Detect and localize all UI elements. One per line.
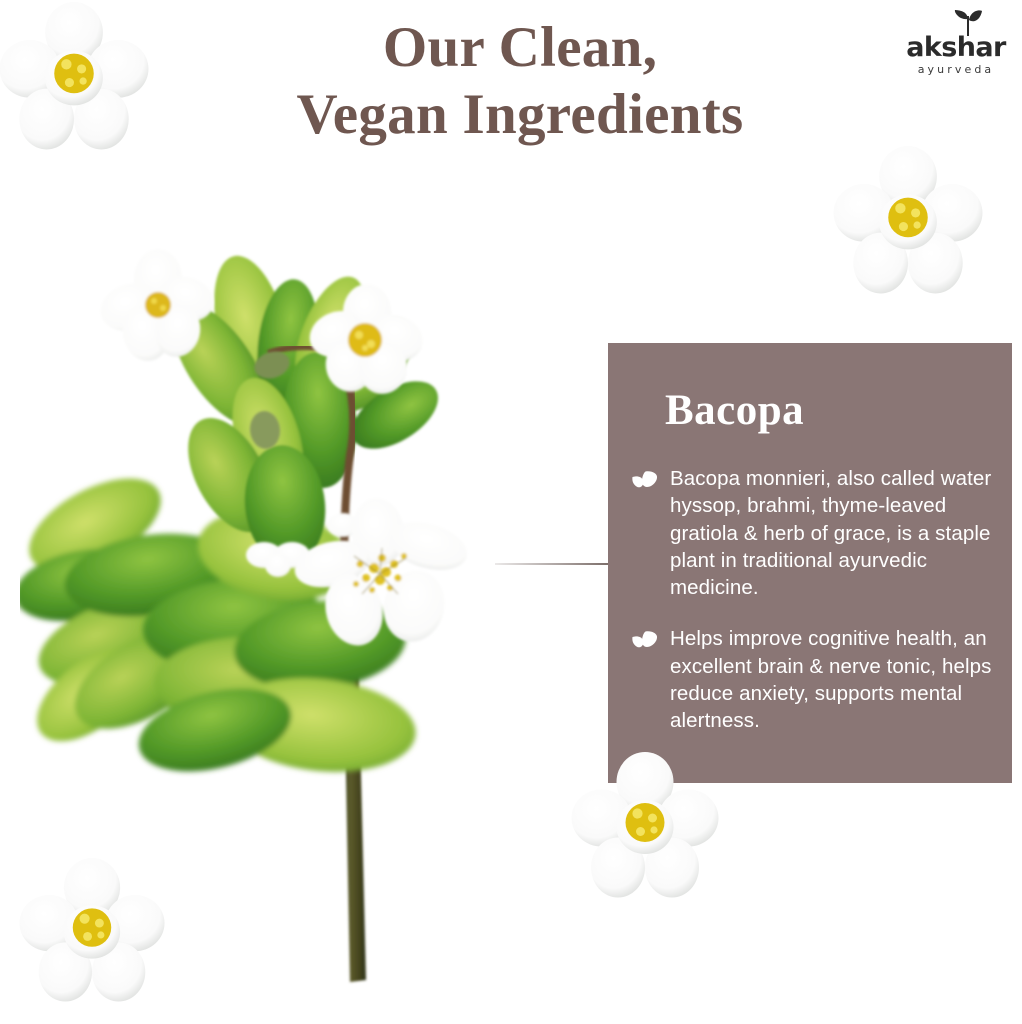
callout-connector-line xyxy=(495,563,610,565)
page-title: Our Clean, Vegan Ingredients xyxy=(170,14,870,149)
leaf-bullet-icon xyxy=(632,630,658,650)
ingredient-info-panel: Bacopa Bacopa monnieri, also called wate… xyxy=(608,343,1012,783)
brand-name: akshar xyxy=(902,32,1010,63)
leaf-bullet-icon xyxy=(632,470,658,490)
brand-tagline: ayurveda xyxy=(902,63,1010,76)
poster-canvas: Our Clean, Vegan Ingredients akshar ayur… xyxy=(0,0,1022,1024)
white-flower-bottom-left xyxy=(18,858,166,1006)
white-flower-bottom-center xyxy=(570,752,720,902)
brand-logo[interactable]: akshar ayurveda xyxy=(902,8,1010,84)
white-flower-top-left xyxy=(0,2,150,154)
ingredient-name: Bacopa xyxy=(665,389,804,432)
page-title-line-1: Our Clean, xyxy=(383,16,657,79)
list-item-text: Bacopa monnieri, also called water hysso… xyxy=(670,467,991,599)
white-flower-top-right xyxy=(832,146,984,298)
list-item: Helps improve cognitive health, an excel… xyxy=(618,625,1008,734)
benefit-list: Bacopa monnieri, also called water hysso… xyxy=(618,465,1008,758)
list-item-text: Helps improve cognitive health, an excel… xyxy=(670,627,992,732)
list-item: Bacopa monnieri, also called water hysso… xyxy=(618,465,1008,601)
page-title-line-2: Vegan Ingredients xyxy=(170,81,870,148)
